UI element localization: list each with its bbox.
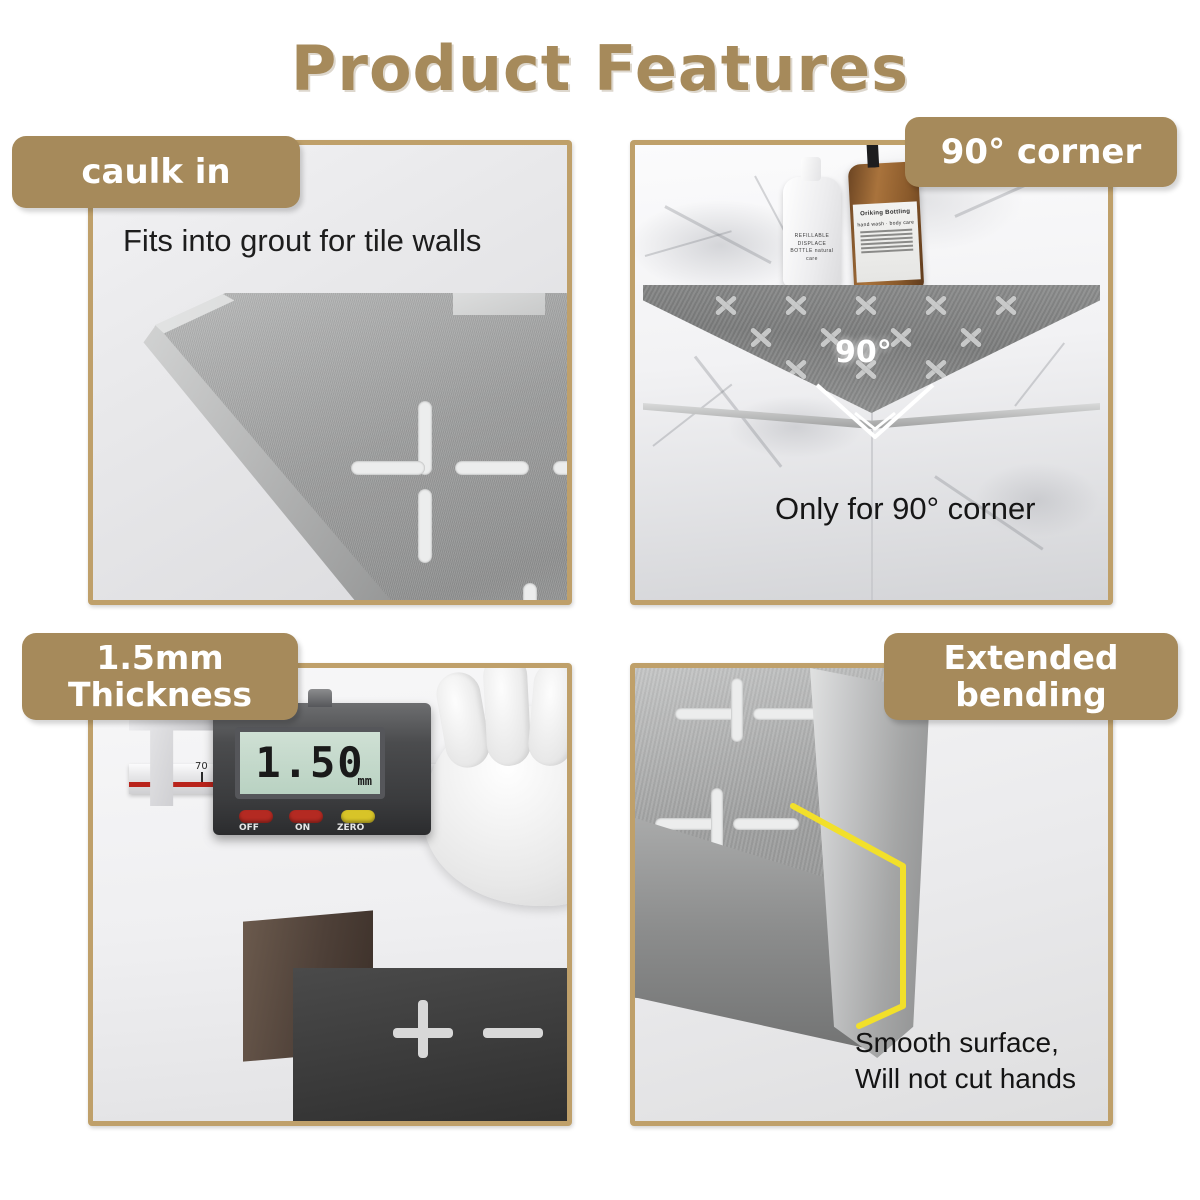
caliper-reading: 1.50: [255, 742, 364, 784]
caliper-thumbwheel: [308, 689, 332, 707]
bottle-label: REFILLABLE DISPLACE BOTTLE natural care: [787, 233, 837, 259]
page-title: Product Features: [0, 32, 1200, 105]
angle-label-90: 90°: [835, 335, 892, 370]
panel-image-thickness: 70 80 90 mm 1.50 mm: [93, 668, 567, 1121]
panel-caption-caulk-in: Fits into grout for tile walls: [123, 223, 481, 259]
panel-image-90-corner: REFILLABLE DISPLACE BOTTLE natural care …: [635, 145, 1108, 600]
badge-extended-bending: Extended bending: [884, 633, 1178, 720]
bottle-label-sub: hand wash · body care: [857, 219, 914, 228]
glove-finger: [527, 663, 572, 768]
steel-plate-with-slots: [293, 968, 572, 1126]
drain-slot: [455, 461, 529, 475]
drain-slot: [418, 489, 432, 563]
drain-slot: [553, 461, 572, 475]
drain-slot: [351, 461, 425, 475]
white-bottle: REFILLABLE DISPLACE BOTTLE natural care: [783, 177, 841, 287]
product-features-infographic: Product Features: [0, 0, 1200, 1200]
badge-90-corner: 90° corner: [905, 117, 1177, 187]
feature-panel-thickness: 70 80 90 mm 1.50 mm: [88, 663, 572, 1126]
ruler-tick-label: 70: [195, 761, 208, 772]
right-angle-marker-icon: [815, 383, 935, 439]
marble-vein: [645, 230, 732, 257]
feature-panel-caulk-in: Fits into grout for tile walls: [88, 140, 572, 605]
caliper-on-label: ON: [295, 823, 310, 833]
caliper-off-label: OFF: [239, 823, 259, 833]
caliper-lcd-display: 1.50 mm: [235, 727, 385, 799]
glove-finger: [482, 663, 532, 767]
panel-image-extended-bending: Smooth surface, Will not cut hands: [635, 668, 1108, 1121]
caliper-zero-label: ZERO: [337, 823, 364, 833]
panel-image-caulk-in: Fits into grout for tile walls: [93, 145, 567, 600]
feature-panel-extended-bending: Smooth surface, Will not cut hands: [630, 663, 1113, 1126]
bottle-label-title: Oriking Bottling: [853, 207, 917, 219]
drain-slot: [418, 1000, 428, 1058]
caliper-on-button[interactable]: [289, 810, 323, 823]
panel-caption-extended-bending: Smooth surface, Will not cut hands: [855, 1025, 1076, 1097]
steel-shelf-illustration: [123, 293, 572, 605]
caliper-off-button[interactable]: [239, 810, 273, 823]
drain-slot: [483, 1028, 543, 1038]
panel-caption-90-corner: Only for 90° corner: [775, 491, 1036, 527]
caliper-reading-unit: mm: [358, 774, 372, 788]
badge-caulk-in: caulk in: [12, 136, 300, 208]
drain-slot: [523, 583, 537, 605]
bottle-neck: [801, 157, 821, 181]
shelf-notch: [453, 293, 545, 315]
drain-slot: [753, 708, 819, 720]
feature-panel-90-corner: REFILLABLE DISPLACE BOTTLE natural care …: [630, 140, 1113, 605]
bottle-label: Oriking Bottling hand wash · body care: [853, 201, 921, 282]
caliper-zero-button[interactable]: [341, 810, 375, 823]
digital-caliper: mm 1.50 mm OFF ON ZERO: [213, 703, 431, 835]
drain-slot: [731, 678, 743, 742]
badge-thickness: 1.5mm Thickness: [22, 633, 298, 720]
ruler-tick: [201, 772, 203, 782]
